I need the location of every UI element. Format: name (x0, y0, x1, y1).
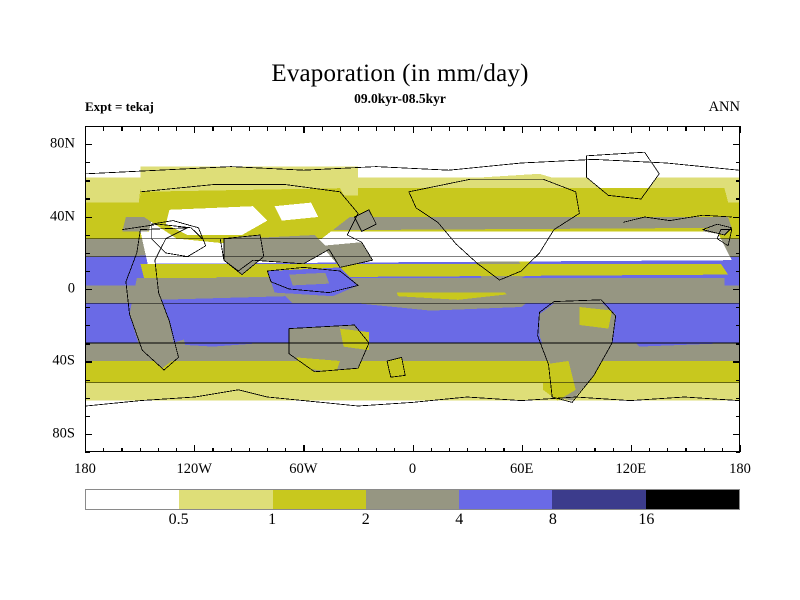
y-tick (85, 434, 92, 435)
y-tick-right (736, 343, 741, 344)
x-tick (467, 448, 468, 453)
colorbar-tick-label: 8 (549, 511, 557, 529)
x-tick (540, 448, 541, 453)
y-tick-right (736, 380, 741, 381)
map-plot-area (85, 126, 740, 452)
y-tick (85, 325, 90, 326)
x-tick-top (503, 126, 504, 131)
x-tick-top (613, 126, 614, 131)
x-tick-top (212, 126, 213, 131)
y-tick-right (733, 144, 740, 145)
x-tick (685, 448, 686, 453)
y-tick-right (733, 289, 740, 290)
y-tick (85, 144, 92, 145)
y-tick-right (733, 434, 740, 435)
y-tick (85, 253, 90, 254)
x-tick (413, 445, 414, 452)
colorbar-band (646, 490, 739, 509)
x-axis-label: 120W (176, 461, 211, 478)
x-axis-label: 180 (74, 461, 96, 478)
colorbar-band (179, 490, 272, 509)
colorbar-tick-label: 16 (638, 511, 654, 529)
x-tick-top (576, 126, 577, 131)
y-axis-label: 80N (15, 136, 75, 153)
x-tick (485, 448, 486, 453)
x-tick-top (522, 126, 523, 133)
x-tick-top (103, 126, 104, 131)
x-tick (303, 445, 304, 452)
y-tick (85, 416, 90, 417)
y-tick-right (736, 180, 741, 181)
x-tick (103, 448, 104, 453)
x-tick-top (322, 126, 323, 131)
y-tick-right (733, 217, 740, 218)
x-tick (394, 448, 395, 453)
x-tick-top (740, 126, 741, 133)
y-tick (85, 126, 90, 127)
x-tick (631, 445, 632, 452)
y-tick (85, 180, 90, 181)
y-tick-right (736, 253, 741, 254)
y-tick (85, 162, 90, 163)
x-tick (503, 448, 504, 453)
colorbar-band (552, 490, 645, 509)
x-tick-top (267, 126, 268, 131)
x-tick (140, 448, 141, 453)
x-tick (613, 448, 614, 453)
colorbar (85, 489, 740, 510)
season-label: ANN (709, 99, 740, 116)
y-tick-right (736, 271, 741, 272)
colorbar-band (86, 490, 179, 509)
x-tick-top (649, 126, 650, 131)
x-tick-top (631, 126, 632, 133)
y-tick-right (736, 452, 741, 453)
x-tick (558, 448, 559, 453)
x-tick-top (558, 126, 559, 131)
x-tick (594, 448, 595, 453)
colorbar-band (366, 490, 459, 509)
colorbar-tick-label: 2 (362, 511, 370, 529)
x-tick-top (376, 126, 377, 131)
y-tick-right (736, 398, 741, 399)
x-tick-top (431, 126, 432, 131)
y-tick (85, 380, 90, 381)
page-title: Evaporation (in mm/day) (0, 60, 800, 88)
figure-canvas: Evaporation (in mm/day) 09.0kyr-08.5kyr … (0, 0, 800, 600)
x-tick-top (140, 126, 141, 131)
y-tick (85, 307, 90, 308)
x-tick-top (249, 126, 250, 131)
x-axis-label: 60W (289, 461, 317, 478)
x-axis-label: 60E (510, 461, 533, 478)
evaporation-map (86, 127, 739, 451)
x-tick-top (176, 126, 177, 131)
x-tick (340, 448, 341, 453)
x-tick-top (394, 126, 395, 131)
x-tick (285, 448, 286, 453)
y-axis-label: 0 (15, 281, 75, 298)
x-axis-label: 180 (729, 461, 751, 478)
x-tick-top (158, 126, 159, 131)
x-tick-top (722, 126, 723, 131)
y-tick-right (736, 416, 741, 417)
y-axis-label: 40N (15, 208, 75, 225)
x-tick (449, 448, 450, 453)
x-tick-top (594, 126, 595, 131)
y-tick-right (736, 325, 741, 326)
y-tick-right (733, 361, 740, 362)
x-tick-top (704, 126, 705, 131)
y-tick (85, 235, 90, 236)
x-tick (522, 445, 523, 452)
x-tick-top (485, 126, 486, 131)
x-tick (431, 448, 432, 453)
x-tick-top (194, 126, 195, 133)
x-tick (576, 448, 577, 453)
x-tick-top (449, 126, 450, 131)
x-tick (358, 448, 359, 453)
colorbar-band (273, 490, 366, 509)
y-tick-right (736, 198, 741, 199)
y-tick-right (736, 126, 741, 127)
x-tick (231, 448, 232, 453)
x-tick (740, 445, 741, 452)
y-tick-right (736, 235, 741, 236)
x-tick-top (358, 126, 359, 131)
x-tick-top (540, 126, 541, 131)
experiment-label: Expt = tekaj (85, 99, 154, 115)
y-tick (85, 398, 90, 399)
x-tick (267, 448, 268, 453)
colorbar-tick-label: 4 (455, 511, 463, 529)
y-tick (85, 452, 90, 453)
y-tick (85, 217, 92, 218)
x-tick (121, 448, 122, 453)
x-tick-top (467, 126, 468, 131)
colorbar-tick-label: 1 (268, 511, 276, 529)
x-tick (212, 448, 213, 453)
y-tick-right (736, 162, 741, 163)
x-tick (667, 448, 668, 453)
x-tick-top (413, 126, 414, 133)
x-tick-top (303, 126, 304, 133)
x-tick (322, 448, 323, 453)
y-tick (85, 198, 90, 199)
x-tick (704, 448, 705, 453)
y-tick (85, 289, 92, 290)
x-tick-top (685, 126, 686, 131)
y-axis-label: 80S (15, 425, 75, 442)
colorbar-band (459, 490, 552, 509)
x-tick-top (231, 126, 232, 131)
x-tick (85, 445, 86, 452)
x-axis-label: 120E (616, 461, 647, 478)
y-axis-label: 40S (15, 353, 75, 370)
y-tick (85, 271, 90, 272)
y-tick (85, 361, 92, 362)
x-tick (176, 448, 177, 453)
x-tick-top (340, 126, 341, 131)
colorbar-tick-label: 0.5 (169, 511, 189, 529)
x-tick-top (667, 126, 668, 131)
y-tick-right (736, 307, 741, 308)
x-tick (194, 445, 195, 452)
y-tick (85, 343, 90, 344)
x-tick (376, 448, 377, 453)
x-axis-label: 0 (409, 461, 416, 478)
x-tick (649, 448, 650, 453)
x-tick (722, 448, 723, 453)
x-tick (249, 448, 250, 453)
x-tick-top (121, 126, 122, 131)
x-tick (158, 448, 159, 453)
x-tick-top (285, 126, 286, 131)
